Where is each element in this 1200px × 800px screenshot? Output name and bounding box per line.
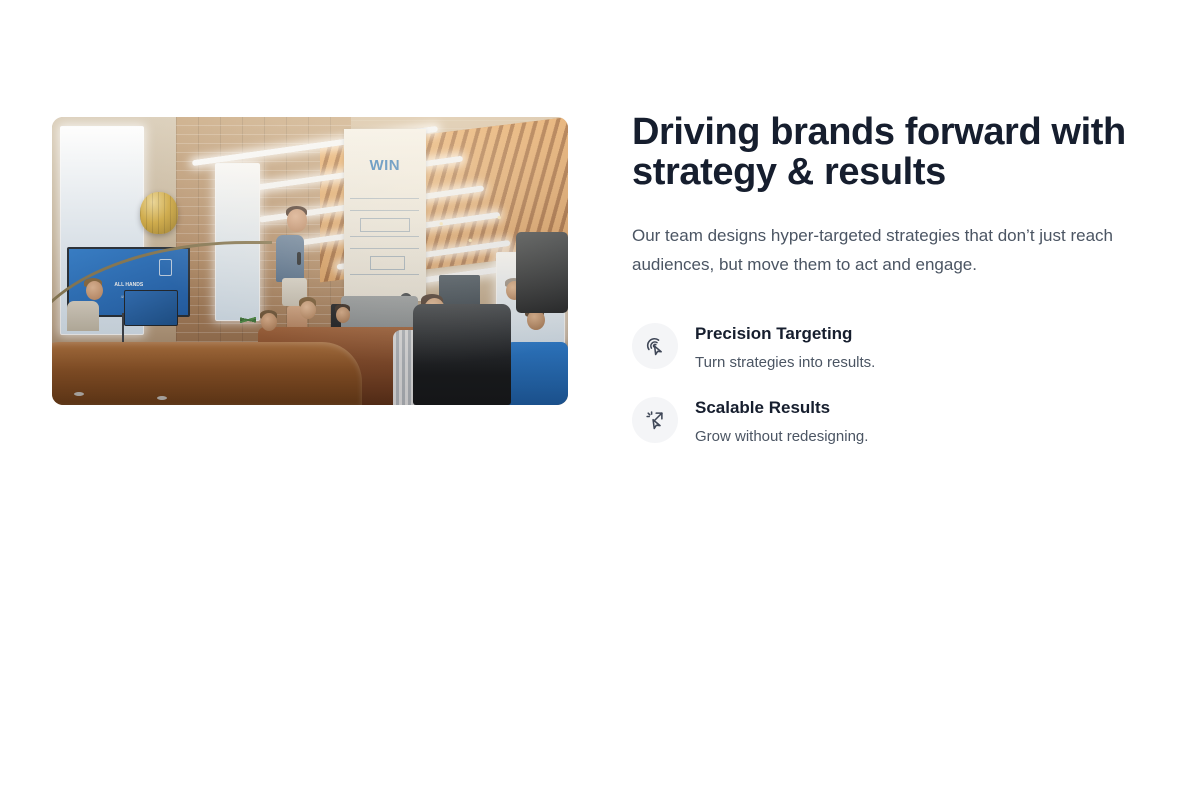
photo-banner-line xyxy=(350,198,419,199)
photo-banner-line xyxy=(350,210,419,211)
photo-mesh-office-chair xyxy=(413,304,511,405)
photo-banner-box xyxy=(370,256,405,270)
photo-win-banner-text: WIN xyxy=(369,158,400,173)
feature-text: Scalable Results Grow without redesignin… xyxy=(695,395,868,447)
feature-icon-badge xyxy=(632,397,678,443)
photo-attendee-blue-shirt xyxy=(506,342,568,405)
feature-description: Grow without redesigning. xyxy=(695,419,868,447)
hero-image: WIN ALL HANDS 4/26/2019 xyxy=(52,117,568,405)
photo-wood-table xyxy=(52,342,362,405)
section-description: Our team designs hyper-targeted strategi… xyxy=(632,192,1147,279)
section-headline: Driving brands forward with strategy & r… xyxy=(632,112,1148,192)
feature-icon-badge xyxy=(632,323,678,369)
photo-win-banner: WIN xyxy=(344,129,427,302)
photo-attendee-head xyxy=(300,301,316,319)
photo-banner-line xyxy=(350,236,419,237)
photo-banner-box xyxy=(360,218,410,232)
office-meeting-photo: WIN ALL HANDS 4/26/2019 xyxy=(52,117,568,405)
feature-section: WIN ALL HANDS 4/26/2019 xyxy=(0,0,1200,800)
feature-item-precision-targeting: Precision Targeting Turn strategies into… xyxy=(632,321,1148,373)
feature-description: Turn strategies into results. xyxy=(695,345,875,373)
feature-item-scalable-results: Scalable Results Grow without redesignin… xyxy=(632,395,1148,447)
photo-gold-pendant-lamp xyxy=(140,192,178,234)
photo-attendee-head xyxy=(261,313,277,331)
photo-attendee-head xyxy=(86,281,103,300)
photo-banner-line xyxy=(350,248,419,249)
photo-plant xyxy=(240,310,256,330)
photo-attendee-body xyxy=(67,301,99,331)
feature-content: Driving brands forward with strategy & r… xyxy=(632,112,1148,447)
photo-office-chair xyxy=(516,232,568,313)
feature-title: Scalable Results xyxy=(695,397,868,419)
photo-table-puck xyxy=(157,396,167,400)
photo-presenter-head xyxy=(287,209,307,232)
photo-microphone xyxy=(297,252,301,265)
feature-text: Precision Targeting Turn strategies into… xyxy=(695,321,875,373)
feature-title: Precision Targeting xyxy=(695,323,875,345)
photo-attendee-head xyxy=(527,310,545,330)
photo-banner-line xyxy=(350,274,419,275)
feature-list: Precision Targeting Turn strategies into… xyxy=(632,279,1148,447)
photo-attendee-head xyxy=(336,307,350,323)
scalable-growth-arrow-icon xyxy=(644,409,666,431)
precision-target-cursor-icon xyxy=(644,335,666,357)
photo-table-puck xyxy=(74,392,84,396)
